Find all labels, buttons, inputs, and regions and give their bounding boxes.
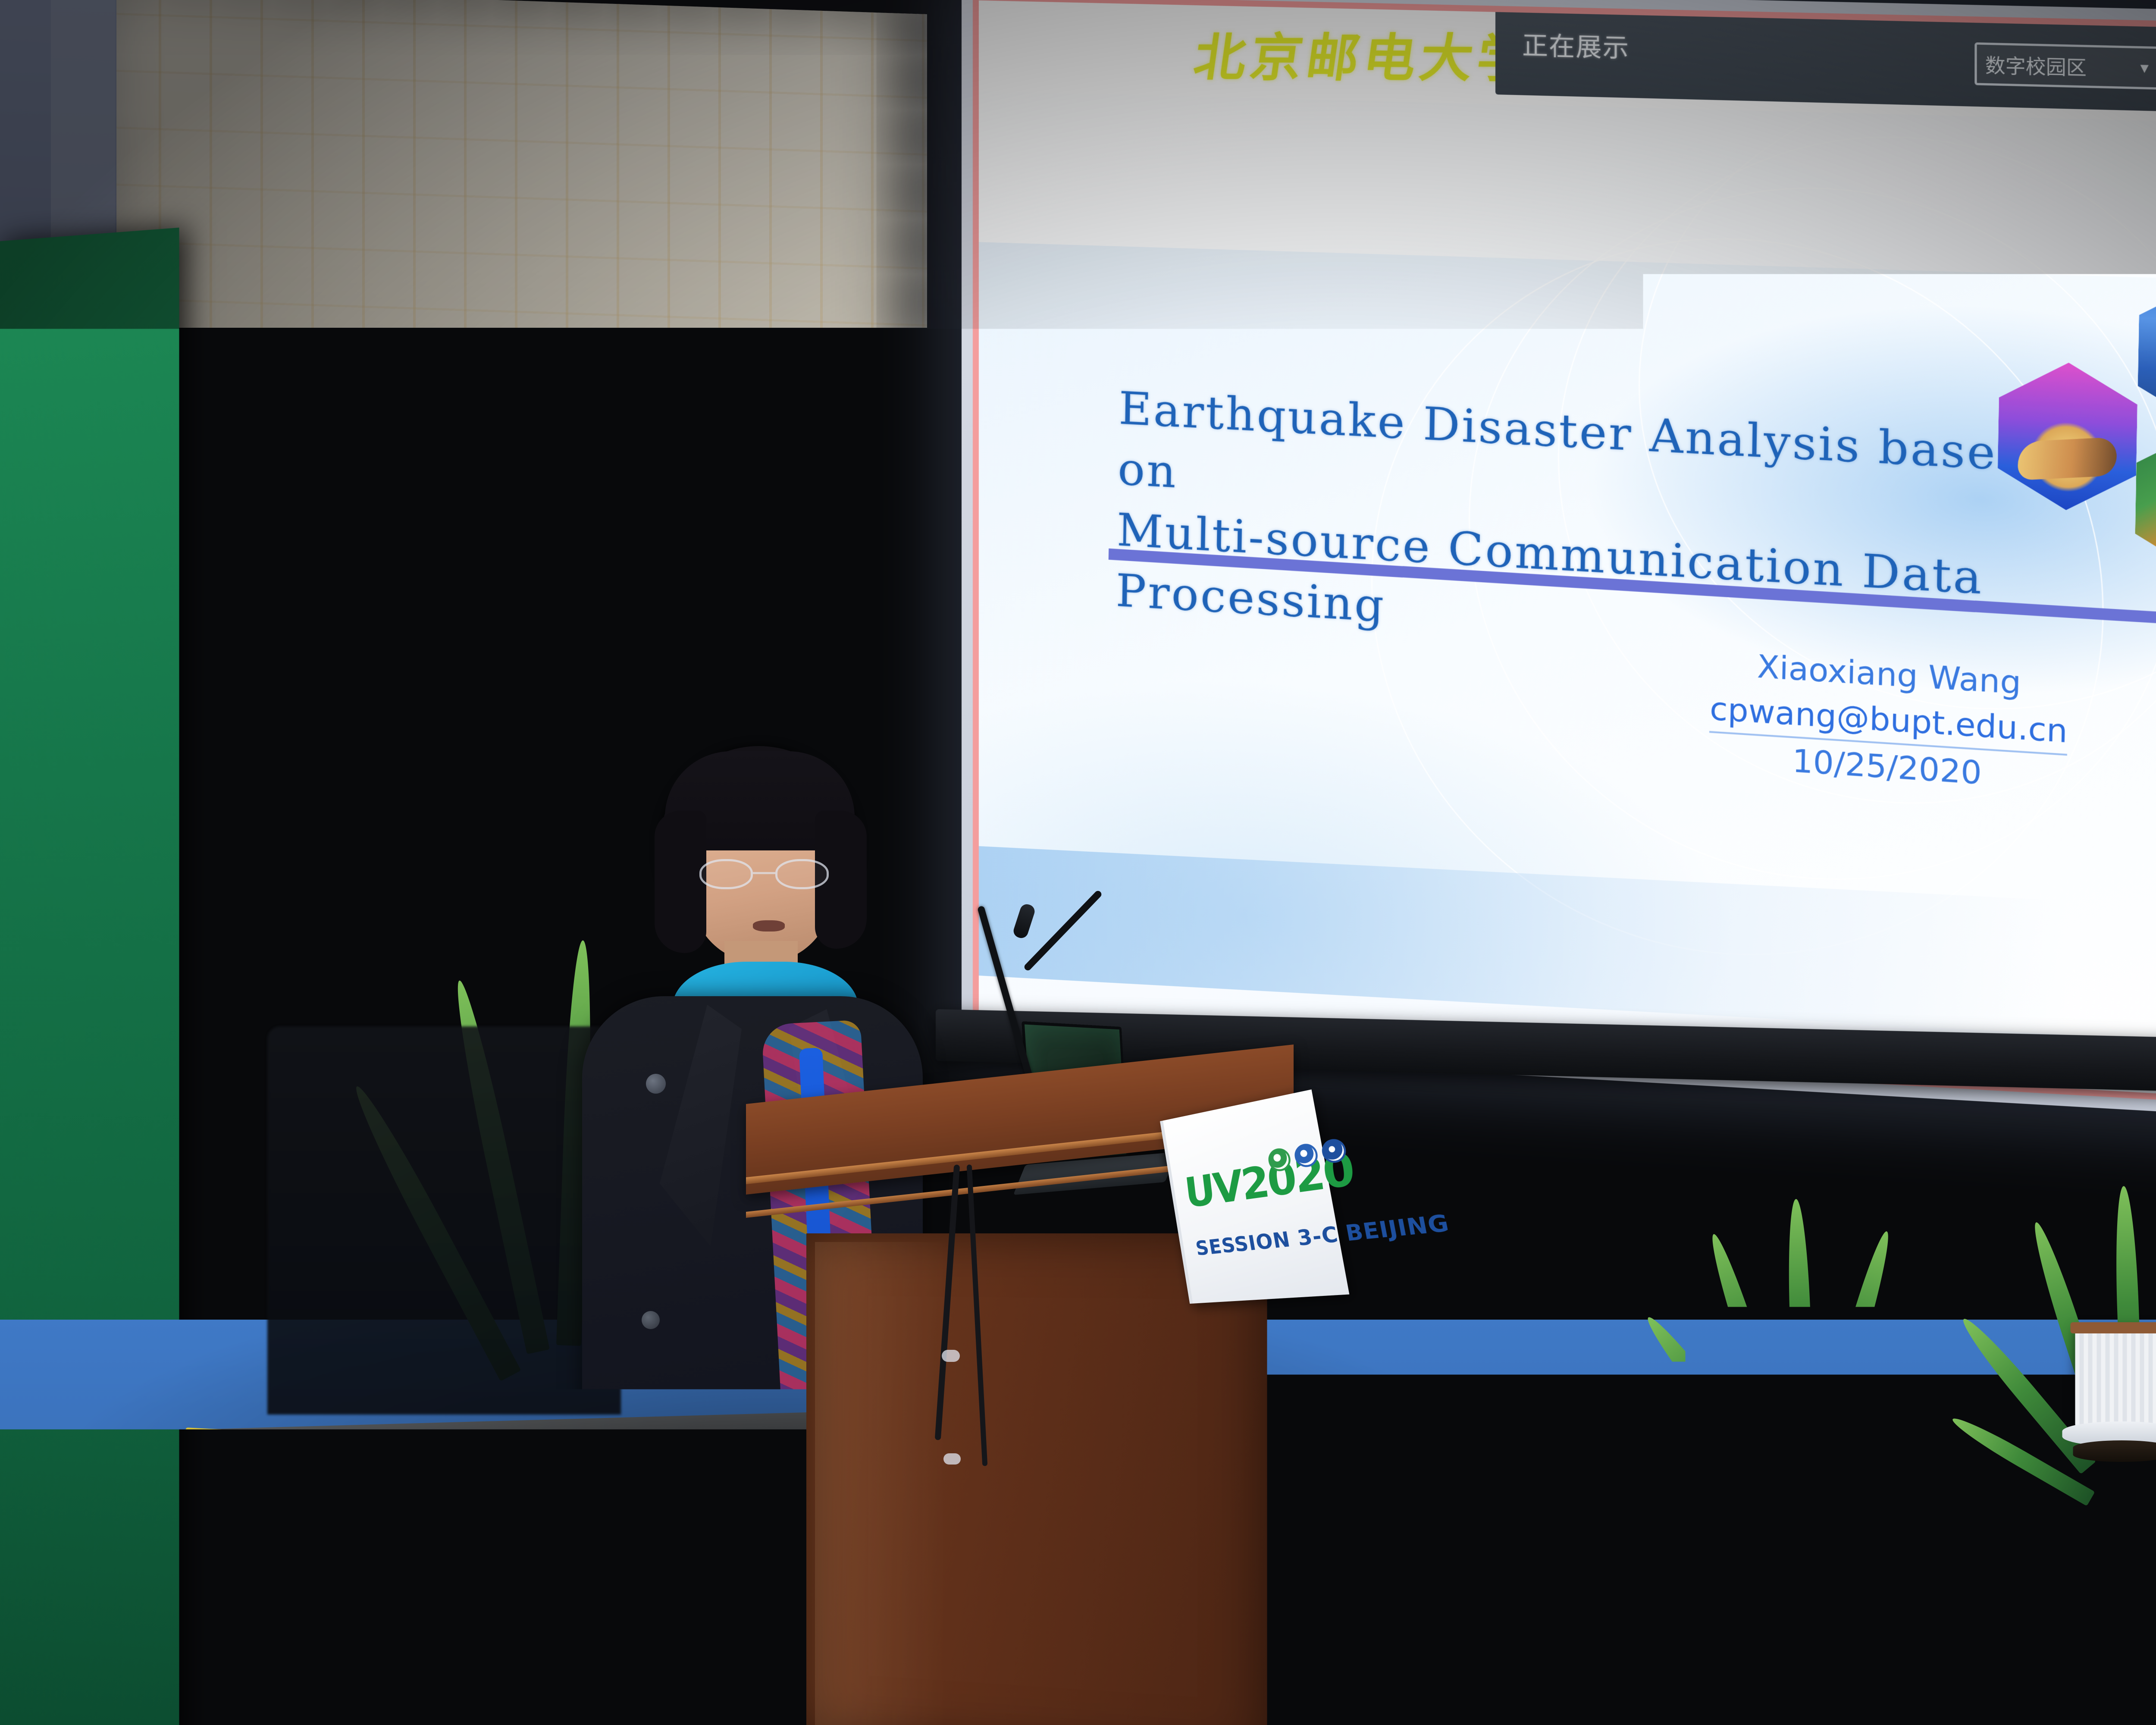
hexagon-image-cluster [1994, 270, 2156, 692]
handshake-globe-hex [1997, 359, 2138, 514]
potted-plant-4 [2001, 1069, 2156, 1432]
cable-tape-marker-2 [943, 1453, 961, 1465]
logo-blue-icon [1293, 1142, 1319, 1169]
presenting-status-label: 正在展示 [1522, 25, 1630, 65]
university-logo: 北京邮电大学 [1190, 16, 1541, 91]
presentation-room-scene: 北京邮电大学 正在展示 数字校园区 ▾ 口 登录教务 Earthquake Di… [0, 0, 2156, 1725]
chevron-down-icon: ▾ [2140, 58, 2148, 77]
rimless-glasses-icon [699, 859, 829, 891]
campus-zone-select[interactable]: 数字校园区 ▾ [1974, 42, 2156, 90]
slide-surface: 北京邮电大学 正在展示 数字校园区 ▾ 口 登录教务 Earthquake Di… [979, 0, 2156, 1107]
cable-tape-marker-1 [942, 1350, 960, 1362]
field-work-hex [2134, 424, 2156, 580]
campus-zone-value: 数字校园区 [1985, 50, 2087, 81]
people-meeting-hex [2137, 277, 2156, 432]
logo-green-icon [1266, 1147, 1292, 1173]
potted-plant-3 [1682, 1087, 1906, 1432]
logo-navy-icon [1320, 1137, 1348, 1164]
projection-screen: 北京邮电大学 正在展示 数字校园区 ▾ 口 登录教务 Earthquake Di… [962, 0, 2156, 1126]
potted-plant-2 [1432, 1173, 1656, 1432]
